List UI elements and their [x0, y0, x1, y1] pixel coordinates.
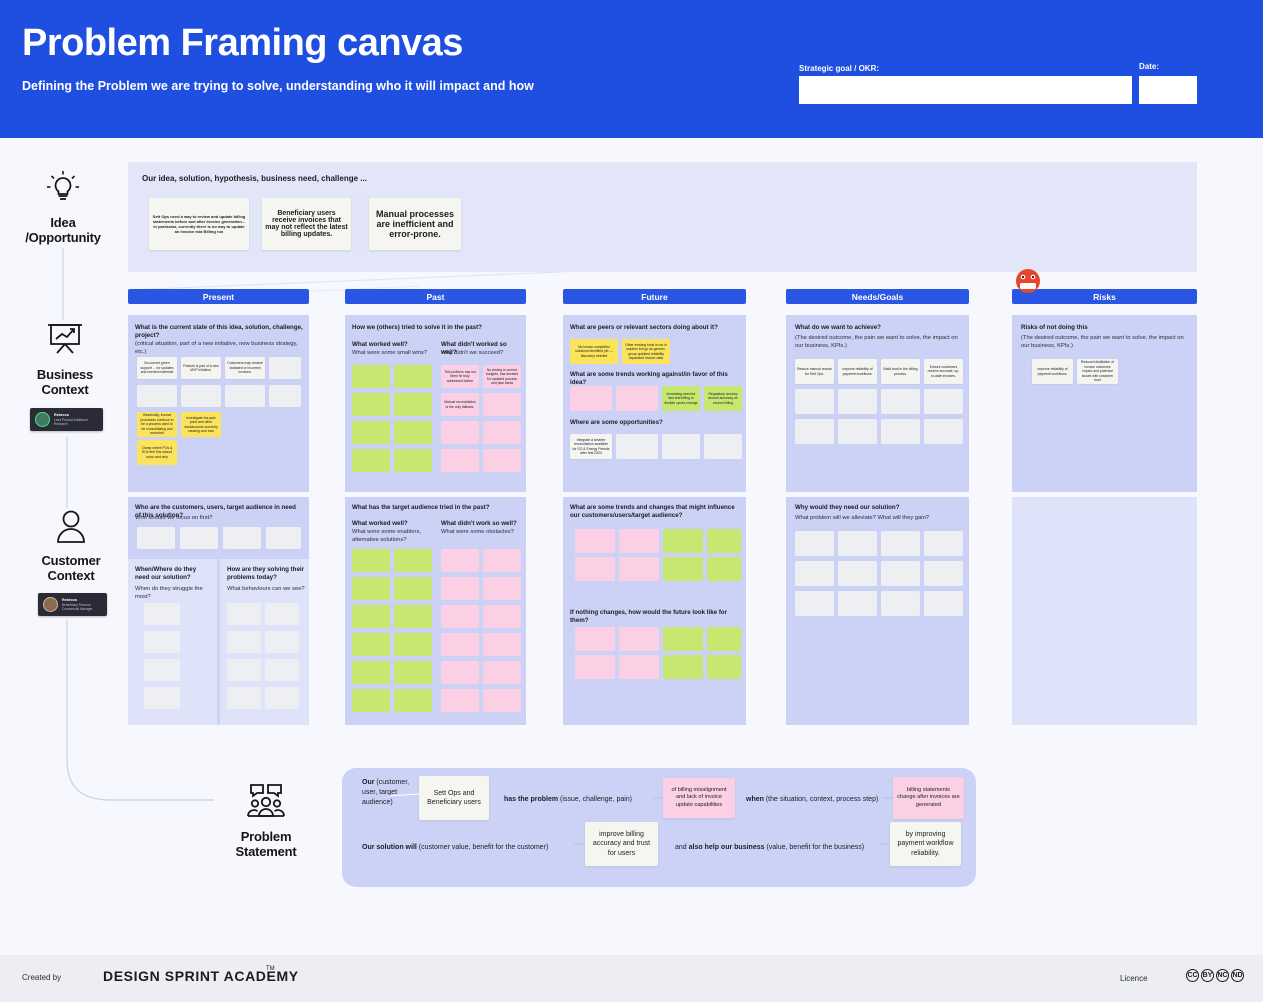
idea-note-3[interactable]: Manual processes are inefficient and err…: [369, 198, 461, 250]
sticky-note[interactable]: [144, 687, 180, 709]
avatar-business-context[interactable]: Rebecca Lead Product Additional Research: [30, 408, 103, 431]
column-header-past[interactable]: Past: [345, 289, 526, 304]
sticky-note[interactable]: [352, 449, 390, 472]
sticky-note[interactable]: [441, 661, 479, 684]
needs-goals-panel-top: What do we want to achieve? (The desired…: [786, 315, 969, 492]
rail-label-idea-line1: Idea: [12, 215, 114, 230]
past-q2-right: What didn't work so well?: [441, 520, 521, 528]
past-q2-left-sub: What were some enablers, alternative sol…: [352, 529, 432, 545]
sticky-note[interactable]: [704, 434, 742, 459]
past-panel-top: How we (others) tried to solve it in the…: [345, 315, 526, 492]
sticky-note[interactable]: [352, 577, 390, 600]
sticky-note[interactable]: [619, 655, 659, 679]
ps-business-label: and also help our business (value, benef…: [675, 843, 897, 853]
ps-solution-bold: Our solution will: [362, 844, 417, 851]
sticky-note[interactable]: [838, 531, 877, 556]
present-subpanel-left: When/Where do they need our solution? Wh…: [128, 559, 217, 725]
ps-note-business-value[interactable]: by improving payment workflow reliabilit…: [890, 822, 961, 866]
ps-has-problem-bold: has the problem: [504, 796, 558, 803]
sticky-note[interactable]: [265, 603, 299, 625]
sticky-note[interactable]: [394, 449, 432, 472]
sticky-note[interactable]: [662, 434, 700, 459]
sticky-note[interactable]: Reduced distillation of invoice outcomes…: [1077, 359, 1118, 384]
sticky-note[interactable]: [441, 421, 479, 444]
date-label: Date:: [1139, 62, 1159, 71]
sticky-note[interactable]: [881, 561, 920, 586]
sticky-note[interactable]: [707, 627, 741, 651]
sticky-note[interactable]: [663, 529, 703, 553]
sticky-note[interactable]: No testing in current budgets, has decid…: [483, 365, 521, 388]
presentation-chart-icon: [44, 322, 86, 360]
present-q3b: How are they solving their problems toda…: [227, 566, 305, 583]
rail-label-customer-context: Customer Context: [20, 553, 122, 584]
person-icon: [53, 508, 89, 546]
strategic-goal-input[interactable]: [799, 76, 1132, 104]
sticky-note[interactable]: [441, 549, 479, 572]
sticky-note[interactable]: [394, 365, 432, 388]
present-q1-sub: (critical situation, part of a new initi…: [135, 341, 303, 357]
avatar-name: Rebecca: [62, 598, 102, 602]
sticky-note[interactable]: [180, 527, 218, 549]
sticky-note[interactable]: [663, 655, 703, 679]
future-panel-bottom: What are some trends and changes that mi…: [563, 497, 746, 725]
idea-note-3-text: Manual processes are inefficient and err…: [369, 206, 461, 242]
risks-q1-sub: (The desired outcome, the pain we want t…: [1021, 335, 1191, 351]
sticky-note[interactable]: [483, 421, 521, 444]
sticky-note[interactable]: Improve reliability of payment workflows…: [838, 359, 877, 384]
ps-business-bold: also help our business: [689, 844, 765, 851]
sticky-note[interactable]: [570, 386, 612, 411]
present-subpanel-right: How are they solving their problems toda…: [220, 559, 309, 725]
footer-created-by: Created by: [22, 973, 61, 982]
future-q4: What are some trends and changes that mi…: [570, 504, 740, 521]
sticky-note[interactable]: [795, 561, 834, 586]
risks-panel-top: Risks of not doing this (The desired out…: [1012, 315, 1197, 492]
sticky-note[interactable]: [924, 419, 963, 444]
sticky-note[interactable]: [483, 393, 521, 416]
ps-business-rest: (value, benefit for the business): [766, 844, 864, 851]
creative-commons-badges[interactable]: CC BY NC ND: [1186, 969, 1244, 982]
sticky-note[interactable]: [137, 527, 175, 549]
past-q2-left: What worked well?: [352, 520, 432, 528]
sticky-note[interactable]: [838, 389, 877, 414]
sticky-note[interactable]: Feature is part of a new MVP initiative.: [181, 357, 221, 379]
rail-item-customer-context: Customer Context: [20, 508, 122, 584]
rail-item-problem-statement: Problem Statement: [215, 782, 317, 860]
sticky-note[interactable]: [838, 591, 877, 616]
sticky-note[interactable]: [441, 449, 479, 472]
present-q3a: When/Where do they need our solution?: [135, 566, 211, 583]
risks-q1: Risks of not doing this: [1021, 324, 1191, 332]
sticky-note[interactable]: No current green support ... for updates…: [137, 357, 177, 379]
ps-solution-label: Our solution will (customer value, benef…: [362, 843, 592, 853]
sticky-note[interactable]: [483, 661, 521, 684]
past-panel-bottom: What has the target audience tried in th…: [345, 497, 526, 725]
sticky-note[interactable]: [663, 557, 703, 581]
sticky-note[interactable]: [619, 529, 659, 553]
present-q3b-sub: What behaviours can we see?: [227, 586, 305, 594]
sticky-note[interactable]: [924, 561, 963, 586]
present-q1: What is the current state of this idea, …: [135, 324, 303, 341]
sticky-note[interactable]: [352, 689, 390, 712]
rail-label-business-line1: Business: [14, 367, 116, 382]
sticky-note[interactable]: [795, 591, 834, 616]
sticky-note[interactable]: [441, 605, 479, 628]
idea-note-1-text: Sett Ops need a way to review and update…: [149, 211, 249, 237]
ps-our-bold: Our: [362, 779, 374, 786]
sticky-note[interactable]: [265, 659, 299, 681]
ps-note-audience[interactable]: Sett Ops and Beneficiary users: [419, 776, 489, 820]
sticky-note[interactable]: [483, 549, 521, 572]
sticky-note[interactable]: [795, 531, 834, 556]
sticky-note[interactable]: [394, 633, 432, 656]
column-header-future[interactable]: Future: [563, 289, 746, 304]
sticky-note[interactable]: [352, 421, 390, 444]
sticky-note[interactable]: [575, 557, 615, 581]
avatar: [35, 412, 50, 427]
page-subtitle: Defining the Problem we are trying to so…: [22, 79, 534, 93]
needs-q1: What do we want to achieve?: [795, 324, 963, 332]
sticky-note[interactable]: [394, 549, 432, 572]
sticky-note[interactable]: [838, 419, 877, 444]
sticky-note[interactable]: [352, 549, 390, 572]
sticky-note[interactable]: [265, 631, 299, 653]
sticky-note[interactable]: [795, 389, 834, 414]
footer-trademark: TM: [266, 966, 275, 972]
sticky-note[interactable]: [707, 557, 741, 581]
sticky-note[interactable]: Historically, invoice processes continue…: [137, 412, 177, 437]
sticky-note[interactable]: Clamp where POs & SOs feel this should o…: [137, 440, 177, 465]
emoji-avatar-cursor[interactable]: [1014, 268, 1042, 304]
sticky-note[interactable]: This problem has not been fix truly addr…: [441, 365, 479, 388]
idea-panel-title: Our idea, solution, hypothesis, business…: [142, 174, 367, 183]
past-q1: How we (others) tried to solve it in the…: [352, 324, 520, 332]
sticky-note[interactable]: [838, 561, 877, 586]
sticky-note[interactable]: [227, 659, 261, 681]
sticky-note[interactable]: [881, 419, 920, 444]
needs-q2-sub: What problem will we alleviate? What wil…: [795, 515, 963, 523]
sticky-note[interactable]: [394, 661, 432, 684]
sticky-note[interactable]: [266, 527, 301, 549]
past-q1-left: What worked well?: [352, 341, 432, 349]
discussion-group-icon: [245, 782, 287, 822]
sticky-note[interactable]: [144, 631, 180, 653]
sticky-note[interactable]: Regulatory scrutiny around accuracy on i…: [704, 386, 742, 411]
sticky-note[interactable]: [924, 591, 963, 616]
future-q3: Where are some opportunities?: [570, 419, 740, 427]
column-header-needs-goals[interactable]: Needs/Goals: [786, 289, 969, 304]
needs-q1-sub: (The desired outcome, the pain we want t…: [795, 335, 963, 351]
sticky-note[interactable]: [575, 627, 615, 651]
avatar-role: Beneficiary Persona Commercial Manager: [62, 603, 102, 611]
sticky-note[interactable]: [269, 385, 301, 407]
ps-has-problem-label: has the problem (issue, challenge, pain): [504, 795, 654, 805]
sticky-note[interactable]: Other existing tools is not in solution …: [622, 339, 670, 364]
cc-badge-cc: CC: [1186, 969, 1199, 982]
past-q1-right-sub: Why didn't we succeed?: [441, 350, 521, 358]
present-q3a-sub: When do they struggle the most?: [135, 586, 211, 602]
sticky-note[interactable]: [225, 385, 265, 407]
sticky-note[interactable]: [227, 631, 261, 653]
sticky-note[interactable]: [663, 627, 703, 651]
ps-solution-rest: (customer value, benefit for the custome…: [419, 844, 549, 851]
sticky-note[interactable]: [352, 661, 390, 684]
sticky-note[interactable]: [223, 527, 261, 549]
sticky-note[interactable]: [707, 529, 741, 553]
ps-note-customer-value[interactable]: improve billing accuracy and trust for u…: [585, 822, 658, 866]
ps-when-rest: (the situation, context, process step): [766, 796, 878, 803]
future-q5: If nothing changes, how would the future…: [570, 609, 740, 626]
avatar-name: Rebecca: [54, 413, 98, 417]
date-input[interactable]: [1139, 76, 1197, 104]
past-q1-left-sub: What were some small wins?: [352, 350, 432, 358]
sticky-note[interactable]: Integrate a smarter reconciliation avail…: [570, 434, 612, 459]
rail-label-business-context: Business Context: [14, 367, 116, 398]
present-q2-sub: Who should we focus on first?: [135, 515, 303, 523]
sticky-note[interactable]: [144, 659, 180, 681]
sticky-note[interactable]: [483, 605, 521, 628]
sticky-note[interactable]: [575, 655, 615, 679]
future-q1: What are peers or relevant sectors doing…: [570, 324, 740, 332]
rail-label-business-line2: Context: [14, 382, 116, 397]
future-panel-top: What are peers or relevant sectors doing…: [563, 315, 746, 492]
sticky-note[interactable]: Reduce manual rework for Sett Ops.: [795, 359, 834, 384]
sticky-note[interactable]: [144, 603, 180, 625]
sticky-note[interactable]: Build trust in the billing process.: [881, 359, 920, 384]
sticky-note[interactable]: Investigate the pain point and other wor…: [181, 412, 221, 437]
ps-note-problem[interactable]: of billing misalignment and lack of invo…: [663, 778, 735, 818]
sticky-note[interactable]: [394, 689, 432, 712]
ps-has-problem-rest: (issue, challenge, pain): [560, 796, 632, 803]
rail-label-problem-line2: Statement: [215, 844, 317, 859]
sticky-note[interactable]: [483, 577, 521, 600]
idea-note-2[interactable]: Beneficiary users receive invoices that …: [262, 198, 351, 250]
sticky-note[interactable]: [616, 386, 658, 411]
sticky-note[interactable]: [616, 434, 658, 459]
ps-when-bold: when: [746, 796, 764, 803]
sticky-note[interactable]: Improve reliability of payment workflows…: [1032, 359, 1073, 384]
rail-item-business-context: Business Context: [14, 322, 116, 398]
sticky-note[interactable]: [924, 389, 963, 414]
sticky-note[interactable]: [795, 419, 834, 444]
sticky-note[interactable]: Increasing need for fast and billing in …: [662, 386, 700, 411]
rail-label-problem-statement: Problem Statement: [215, 829, 317, 860]
sticky-note[interactable]: [352, 365, 390, 388]
sticky-note[interactable]: Ensure customers receive accurate, up-to…: [924, 359, 963, 384]
sticky-note[interactable]: [181, 385, 221, 407]
strategic-goal-label: Strategic goal / OKR:: [799, 64, 879, 73]
sticky-note[interactable]: [352, 633, 390, 656]
cc-badge-nd: ND: [1231, 969, 1244, 982]
needs-goals-panel-bottom: Why would they need our solution? What p…: [786, 497, 969, 725]
idea-note-2-text: Beneficiary users receive invoices that …: [262, 207, 351, 241]
present-panel-bottom: Who are the customers, users, target aud…: [128, 497, 309, 725]
sticky-note[interactable]: [441, 577, 479, 600]
ps-our-label: Our (customer, user, target audience): [362, 778, 420, 808]
sticky-note[interactable]: [575, 529, 615, 553]
past-q2-right-sub: What were some obstacles?: [441, 529, 521, 537]
avatar-role: Lead Product Additional Research: [54, 418, 98, 426]
sticky-note[interactable]: [619, 627, 659, 651]
sticky-note[interactable]: [227, 687, 261, 709]
sticky-note[interactable]: [441, 633, 479, 656]
present-panel-top: What is the current state of this idea, …: [128, 315, 309, 492]
idea-opportunity-panel: Our idea, solution, hypothesis, business…: [128, 162, 1197, 272]
ps-when-label: when (the situation, context, process st…: [746, 795, 896, 805]
sticky-note[interactable]: [483, 633, 521, 656]
sticky-note[interactable]: [265, 687, 299, 709]
footer-licence-label: Licence: [1120, 974, 1148, 983]
column-header-present[interactable]: Present: [128, 289, 309, 304]
past-q2: What has the target audience tried in th…: [352, 504, 520, 512]
sticky-note[interactable]: [394, 577, 432, 600]
sticky-note[interactable]: [483, 449, 521, 472]
rail-item-idea: Idea /Opportunity: [12, 168, 114, 246]
sticky-note[interactable]: Customers may receive outdated or incorr…: [225, 357, 265, 379]
sticky-note[interactable]: [881, 591, 920, 616]
sticky-note[interactable]: [394, 605, 432, 628]
rail-label-customer-line1: Customer: [20, 553, 122, 568]
rail-label-customer-line2: Context: [20, 568, 122, 583]
sticky-note[interactable]: [619, 557, 659, 581]
sticky-note[interactable]: [352, 393, 390, 416]
needs-q2: Why would they need our solution?: [795, 504, 963, 512]
page-title: Problem Framing canvas: [22, 22, 463, 65]
cc-badge-nc: NC: [1216, 969, 1229, 982]
avatar-customer-context[interactable]: Rebecca Beneficiary Persona Commercial M…: [38, 593, 107, 616]
sticky-note[interactable]: [137, 385, 177, 407]
sticky-note[interactable]: [269, 357, 301, 379]
sticky-note[interactable]: [707, 655, 741, 679]
sticky-note[interactable]: [924, 531, 963, 556]
avatar: [43, 597, 58, 612]
sticky-note[interactable]: Manual reconciliation is the only fallba…: [441, 393, 479, 416]
idea-note-1[interactable]: Sett Ops need a way to review and update…: [149, 198, 249, 250]
rail-label-problem-line1: Problem: [215, 829, 317, 844]
rail-label-idea: Idea /Opportunity: [12, 215, 114, 246]
sticky-note[interactable]: [352, 605, 390, 628]
sticky-note[interactable]: [881, 389, 920, 414]
cc-badge-by: BY: [1201, 969, 1214, 982]
ps-business-pre: and: [675, 844, 687, 851]
page-header: Problem Framing canvas Defining the Prob…: [0, 0, 1263, 138]
risks-panel-bottom: [1012, 497, 1197, 725]
problem-statement-panel: Our (customer, user, target audience) Se…: [342, 768, 976, 887]
sticky-note[interactable]: [227, 603, 261, 625]
sticky-note[interactable]: [394, 421, 432, 444]
sticky-note[interactable]: [441, 689, 479, 712]
sticky-note[interactable]: [483, 689, 521, 712]
sticky-note[interactable]: [881, 531, 920, 556]
ps-note-context[interactable]: billing statements change after invoices…: [893, 777, 964, 819]
sticky-note[interactable]: No known competitor solutions identified…: [570, 339, 618, 364]
sticky-note[interactable]: [394, 393, 432, 416]
lightbulb-icon: [43, 168, 83, 208]
rail-label-idea-line2: /Opportunity: [12, 230, 114, 245]
